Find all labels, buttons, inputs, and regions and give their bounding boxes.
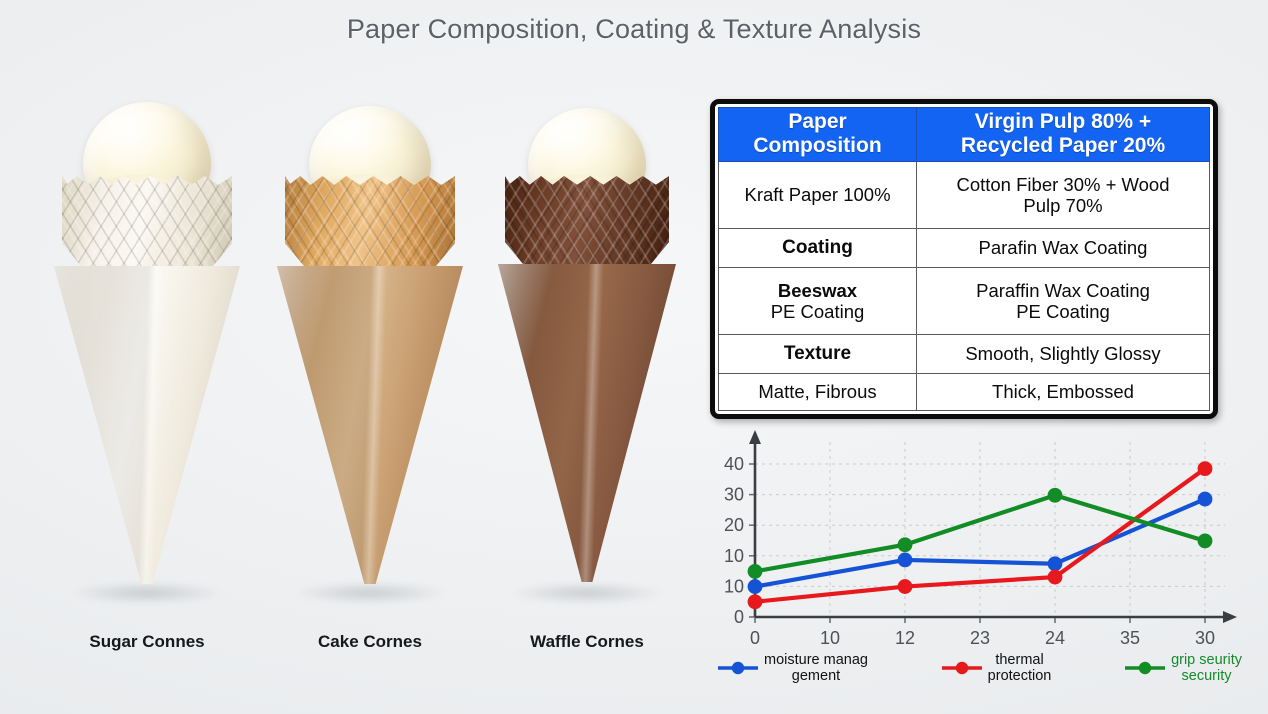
paper-wrapper [277,266,463,584]
header-line-2: Recycled Paper 20% [961,134,1165,157]
header-line-1: Paper [788,110,846,133]
table-header-cell-virgin-pulp: Virgin Pulp 80% + Recycled Paper 20% [917,108,1210,162]
cell-line-1: Coating [782,237,853,258]
cell-line-2: PE Coating [1016,301,1110,322]
svg-text:23: 23 [970,628,990,648]
legend-entry-thermal-protection[interactable]: thermal protection [941,652,1052,684]
table-cell-right: Parafin Wax Coating [917,229,1210,267]
cell-line-2: Pulp 70% [1023,195,1102,216]
cell-line-1: Beeswax [778,280,857,301]
cell-line-1: Paraffin Wax Coating [976,280,1150,301]
legend-swatch-icon [717,660,759,676]
cone-shadow [512,582,662,604]
paper-creases [54,266,240,584]
table-row: Coating Parafin Wax Coating [719,229,1210,267]
cones-photo-group: Sugar Connes Cake Cornes Waffle Cornes [0,70,700,670]
table-cell-right: Cotton Fiber 30% + Wood Pulp 70% [917,161,1210,229]
legend-swatch-icon [1124,660,1166,676]
svg-text:10: 10 [724,546,744,566]
legend-label-moisture-management: moisture manag gement [764,652,868,684]
cell-line-2: PE Coating [771,301,865,322]
legend-entry-grip-security[interactable]: grip seurity security [1124,652,1242,684]
table-cell-right: Paraffin Wax Coating PE Coating [917,267,1210,335]
cell-line-1: Kraft Paper 100% [744,184,890,205]
cell-line-1: Matte, Fibrous [758,381,876,402]
spec-table: Paper Composition Virgin Pulp 80% + Recy… [718,107,1210,411]
legend-label-thermal-protection: thermal protection [988,652,1052,684]
chart-x-axis-ticks: 0101223243530 [750,617,1215,648]
cell-line-1: Texture [784,343,851,364]
table-row: Texture Smooth, Slightly Glossy [719,335,1210,373]
cell-line-1: Thick, Embossed [992,381,1134,402]
table-row: Beeswax PE Coating Paraffin Wax Coating … [719,267,1210,335]
svg-text:0: 0 [734,607,744,627]
legend-entry-moisture-management[interactable]: moisture manag gement [717,652,868,684]
table-cell-left: Kraft Paper 100% [719,161,917,229]
legend-swatch-icon [941,660,983,676]
table-row: Matte, Fibrous Thick, Embossed [719,373,1210,410]
table-cell-left: Coating [719,229,917,267]
cone-figure-3: Waffle Cornes [487,96,687,596]
table-cell-right: Thick, Embossed [917,373,1210,410]
cone-shadow [295,582,445,604]
svg-text:0: 0 [750,628,760,648]
svg-text:10: 10 [724,576,744,596]
table-cell-left: Texture [719,335,917,373]
svg-text:20: 20 [724,515,744,535]
cell-line-1: Cotton Fiber 30% + Wood [956,174,1169,195]
cell-line-1: Parafin Wax Coating [979,237,1148,258]
cone-caption-1: Sugar Connes [89,632,204,652]
paper-creases [498,264,676,582]
chart-gridlines [755,442,1225,617]
chart-legend: moisture manag gement thermal protection… [717,652,1242,684]
svg-text:24: 24 [1045,628,1065,648]
svg-text:40: 40 [724,454,744,474]
table-header-cell-paper-composition: Paper Composition [719,108,917,162]
legend-label-grip-security: grip seurity security [1171,652,1242,684]
header-line-2: Composition [753,134,881,157]
svg-text:30: 30 [724,485,744,505]
cone-caption-3: Waffle Cornes [530,632,644,652]
cell-line-1: Smooth, Slightly Glossy [965,343,1160,364]
paper-wrapper [54,266,240,584]
svg-text:10: 10 [820,628,840,648]
page-title: Paper Composition, Coating & Texture Ana… [0,14,1268,45]
chart-plot-area: 01010203040 0101223243530 [705,424,1250,654]
svg-text:35: 35 [1120,628,1140,648]
paper-wrapper [498,264,676,582]
table-header-row: Paper Composition Virgin Pulp 80% + Recy… [719,108,1210,162]
spec-table-frame: Paper Composition Virgin Pulp 80% + Recy… [710,99,1218,419]
paper-creases [277,266,463,584]
table-row: Kraft Paper 100% Cotton Fiber 30% + Wood… [719,161,1210,229]
cone-figure-1: Sugar Connes [42,96,252,596]
table-cell-right: Smooth, Slightly Glossy [917,335,1210,373]
table-cell-left: Beeswax PE Coating [719,267,917,335]
svg-text:30: 30 [1195,628,1215,648]
cone-figure-2: Cake Cornes [265,96,475,596]
svg-text:12: 12 [895,628,915,648]
header-line-1: Virgin Pulp 80% + [975,110,1151,133]
cone-caption-2: Cake Cornes [318,632,422,652]
table-cell-left: Matte, Fibrous [719,373,917,410]
trend-line-chart: 01010203040 0101223243530 moisture manag… [705,424,1250,714]
cone-shadow [72,582,222,604]
